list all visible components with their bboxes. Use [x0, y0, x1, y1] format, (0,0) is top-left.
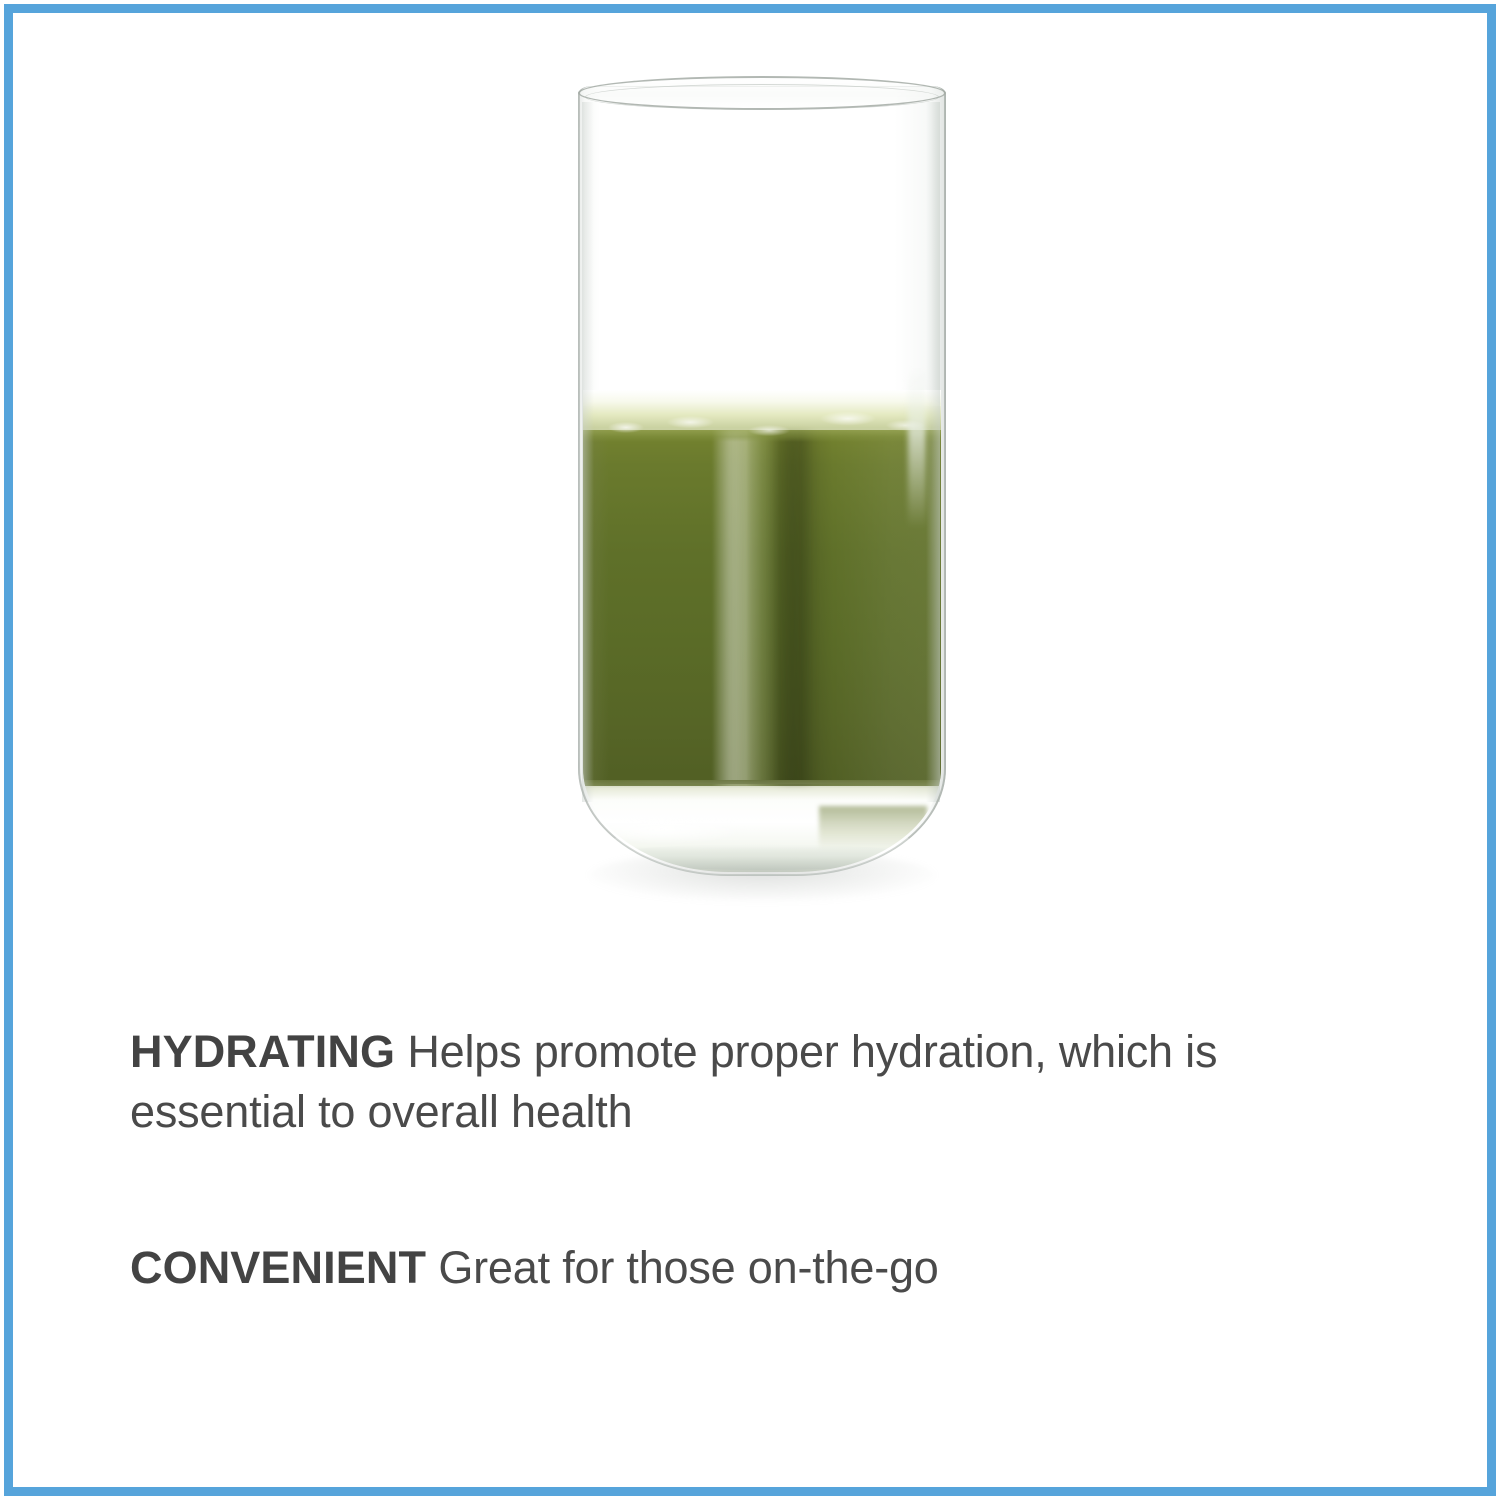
benefit-keyword-convenient: CONVENIENT	[130, 1242, 426, 1293]
glass-foot	[601, 844, 923, 870]
glass-left-highlight	[582, 102, 594, 802]
benefit-keyword-hydrating: HYDRATING	[130, 1026, 395, 1077]
glass-rim-inner	[585, 84, 939, 110]
glass-of-green-juice-illustration	[566, 68, 956, 898]
benefit-item-convenient: CONVENIENT Great for those on-the-go	[130, 1238, 1360, 1298]
liquid-shadow-stripe	[769, 430, 816, 786]
glass-right-highlight	[926, 102, 940, 802]
benefits-list: HYDRATING Helps promote proper hydration…	[130, 1022, 1360, 1298]
benefit-item-hydrating: HYDRATING Helps promote proper hydration…	[130, 1022, 1360, 1142]
base-highlight	[604, 816, 747, 844]
glass-specular-spark	[908, 368, 926, 528]
product-benefit-panel: HYDRATING Helps promote proper hydration…	[0, 0, 1500, 1500]
green-juice-liquid	[583, 430, 941, 786]
glass-interior	[583, 90, 941, 872]
base-green-reflection	[819, 806, 926, 850]
benefit-text-convenient: Great for those on-the-go	[438, 1242, 938, 1293]
juice-foam-layer	[583, 390, 941, 442]
liquid-highlight-stripe	[712, 430, 751, 786]
product-photo	[13, 13, 1487, 973]
